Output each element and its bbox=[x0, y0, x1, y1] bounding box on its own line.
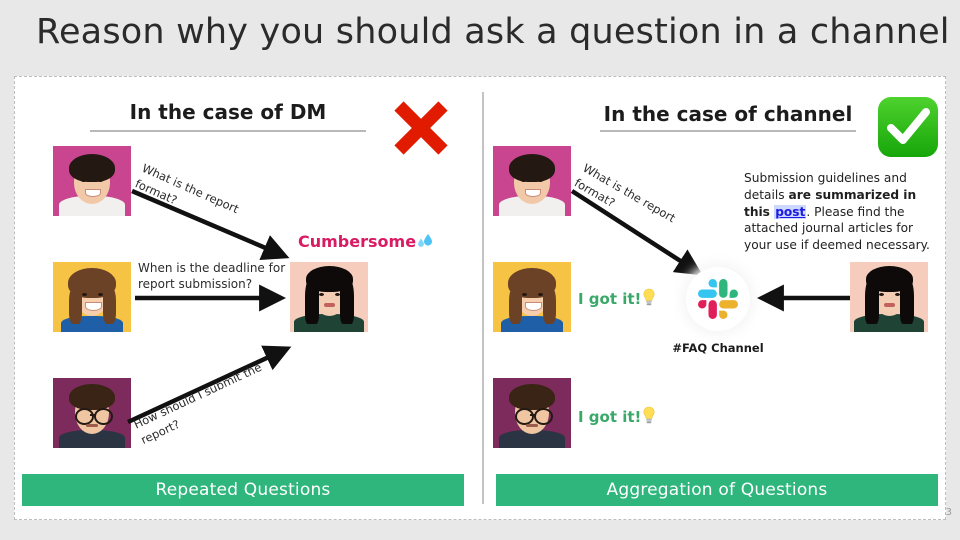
reaction-cumbersome-label: Cumbersome bbox=[298, 232, 416, 251]
slide-root: Reason why you should ask a question in … bbox=[0, 0, 960, 540]
red-cross-icon bbox=[390, 97, 452, 159]
right-heading-rule bbox=[600, 130, 856, 132]
right-panel-heading: In the case of channel bbox=[600, 102, 856, 126]
avatar-asker-three-right bbox=[493, 378, 571, 448]
sweat-droplets-icon bbox=[417, 233, 435, 253]
faq-channel-node[interactable] bbox=[686, 267, 750, 331]
page-title: Reason why you should ask a question in … bbox=[36, 12, 950, 52]
green-check-icon bbox=[876, 95, 940, 159]
channel-note: Submission guidelines and details are su… bbox=[744, 170, 940, 254]
faq-channel-label: #FAQ Channel bbox=[620, 341, 816, 355]
left-heading-rule bbox=[90, 130, 366, 132]
reaction-got-it-one-label: I got it! bbox=[578, 290, 641, 308]
avatar-asker-two bbox=[53, 262, 131, 332]
light-bulb-icon-two bbox=[642, 406, 656, 428]
reaction-got-it-two: I got it! bbox=[578, 406, 656, 428]
reaction-got-it-two-label: I got it! bbox=[578, 408, 641, 426]
slack-logo-icon bbox=[686, 267, 750, 331]
left-footer-label: Repeated Questions bbox=[156, 480, 331, 500]
arrow-responder-to-channel bbox=[760, 288, 860, 308]
avatar-asker-one bbox=[53, 146, 131, 216]
avatar-responder-right bbox=[850, 262, 928, 332]
avatar-responder-left bbox=[290, 262, 368, 332]
reaction-got-it-one: I got it! bbox=[578, 288, 656, 310]
question-label-two: When is the deadline for report submissi… bbox=[138, 260, 288, 292]
post-link[interactable]: post bbox=[774, 205, 806, 219]
avatar-asker-two-right bbox=[493, 262, 571, 332]
page-number: 3 bbox=[946, 507, 952, 518]
left-panel-heading: In the case of DM bbox=[128, 100, 328, 124]
light-bulb-icon bbox=[642, 288, 656, 310]
left-footer-bar: Repeated Questions bbox=[22, 474, 464, 506]
panel-divider bbox=[482, 92, 484, 504]
right-footer-label: Aggregation of Questions bbox=[607, 480, 828, 500]
avatar-asker-one-right bbox=[493, 146, 571, 216]
right-footer-bar: Aggregation of Questions bbox=[496, 474, 938, 506]
avatar-asker-three bbox=[53, 378, 131, 448]
reaction-cumbersome: Cumbersome bbox=[298, 232, 435, 253]
